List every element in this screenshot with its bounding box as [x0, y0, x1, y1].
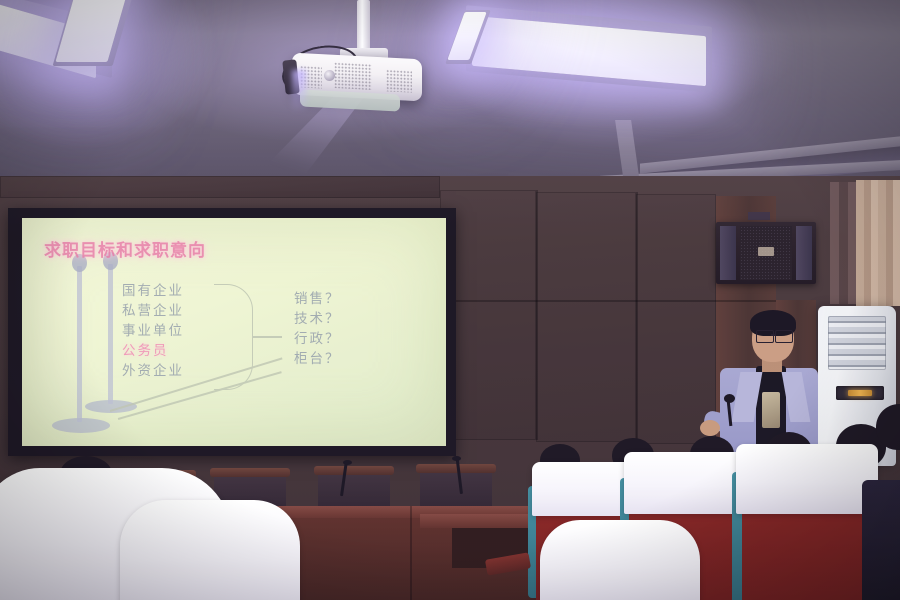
- speaker-bracket: [748, 212, 770, 220]
- seat-cover-front-left-2: [120, 500, 300, 600]
- slide-left-item-2: 事业单位: [122, 322, 184, 339]
- dais-chair-2[interactable]: [318, 470, 390, 510]
- slide-mic-pole-2: [108, 264, 113, 404]
- projector-vent-center: [334, 62, 372, 90]
- projector-lens: [324, 70, 335, 81]
- slide-brace-tail: [252, 336, 282, 338]
- projector-mount-pole: [357, 0, 370, 52]
- presenter-hand: [700, 420, 720, 436]
- presenter-glasses-right-lens: [775, 330, 793, 343]
- slide-left-item-3: 公务员: [122, 342, 184, 359]
- slide-right-item-2: 行政？: [294, 330, 341, 347]
- dais-vertical-seam: [410, 506, 412, 600]
- wall-wood-seam: [716, 300, 776, 302]
- projector-vent-right: [386, 69, 412, 92]
- slide-title: 求职目标和求职意向: [44, 236, 206, 261]
- presenter-tshirt-graphic: [762, 392, 780, 428]
- presenter-glasses-left-lens: [756, 330, 774, 343]
- dais-chair-2-top: [314, 466, 394, 475]
- slide-right-item-0: 销售？: [294, 290, 341, 307]
- seat-cover-2: [624, 452, 748, 514]
- seat-cover-3: [736, 444, 878, 514]
- seat-cover-front-center: [540, 520, 700, 600]
- slide-right-item-1: 技术？: [294, 310, 341, 327]
- gooseneck-mic-2-head: [452, 456, 461, 461]
- slide-left-item-1: 私营企业: [122, 302, 184, 319]
- dais-chair-3[interactable]: [420, 468, 492, 510]
- wall-seam-1: [536, 190, 538, 440]
- dais-chair-1-top: [210, 468, 290, 477]
- gooseneck-mic-1-head: [343, 460, 352, 465]
- air-conditioner-louvers: [828, 316, 886, 370]
- presenter-glasses-bridge: [771, 334, 776, 336]
- wall-upper-band: [0, 176, 440, 198]
- speaker-brand-badge: [758, 247, 774, 256]
- speaker-side-left: [720, 226, 736, 280]
- presenter-podium-mic-head: [724, 394, 735, 403]
- slide-right-column: 销售？ 技术？ 行政？ 柜台？: [294, 290, 341, 367]
- wall-seam-horizontal: [440, 300, 716, 302]
- seat-back-4: [862, 480, 900, 600]
- slide-left-item-4: 外资企业: [122, 362, 184, 379]
- wall-panel-2: [536, 192, 636, 442]
- wall-panel-3: [636, 194, 716, 444]
- slide-right-item-3: 柜台？: [294, 350, 341, 367]
- curtain: [856, 180, 900, 306]
- slide-brace: [214, 284, 253, 390]
- slide-left-item-0: 国有企业: [122, 282, 184, 299]
- slide-mic-pole-1: [77, 266, 82, 422]
- projector-light-spill: [292, 70, 306, 112]
- speaker-side-right: [796, 226, 812, 280]
- air-conditioner-display-led: [848, 390, 872, 396]
- wall-seam-2: [636, 192, 638, 442]
- curtain-dark-panel: [830, 182, 856, 304]
- projection-screen: 求职目标和求职意向 国有企业 私营企业 事业单位 公务员 外资企业 销售？ 技术…: [22, 218, 446, 446]
- slide-left-column: 国有企业 私营企业 事业单位 公务员 外资企业: [122, 282, 184, 379]
- presentation-room-photo: 求职目标和求职意向 国有企业 私营企业 事业单位 公务员 外资企业 销售？ 技术…: [0, 0, 900, 600]
